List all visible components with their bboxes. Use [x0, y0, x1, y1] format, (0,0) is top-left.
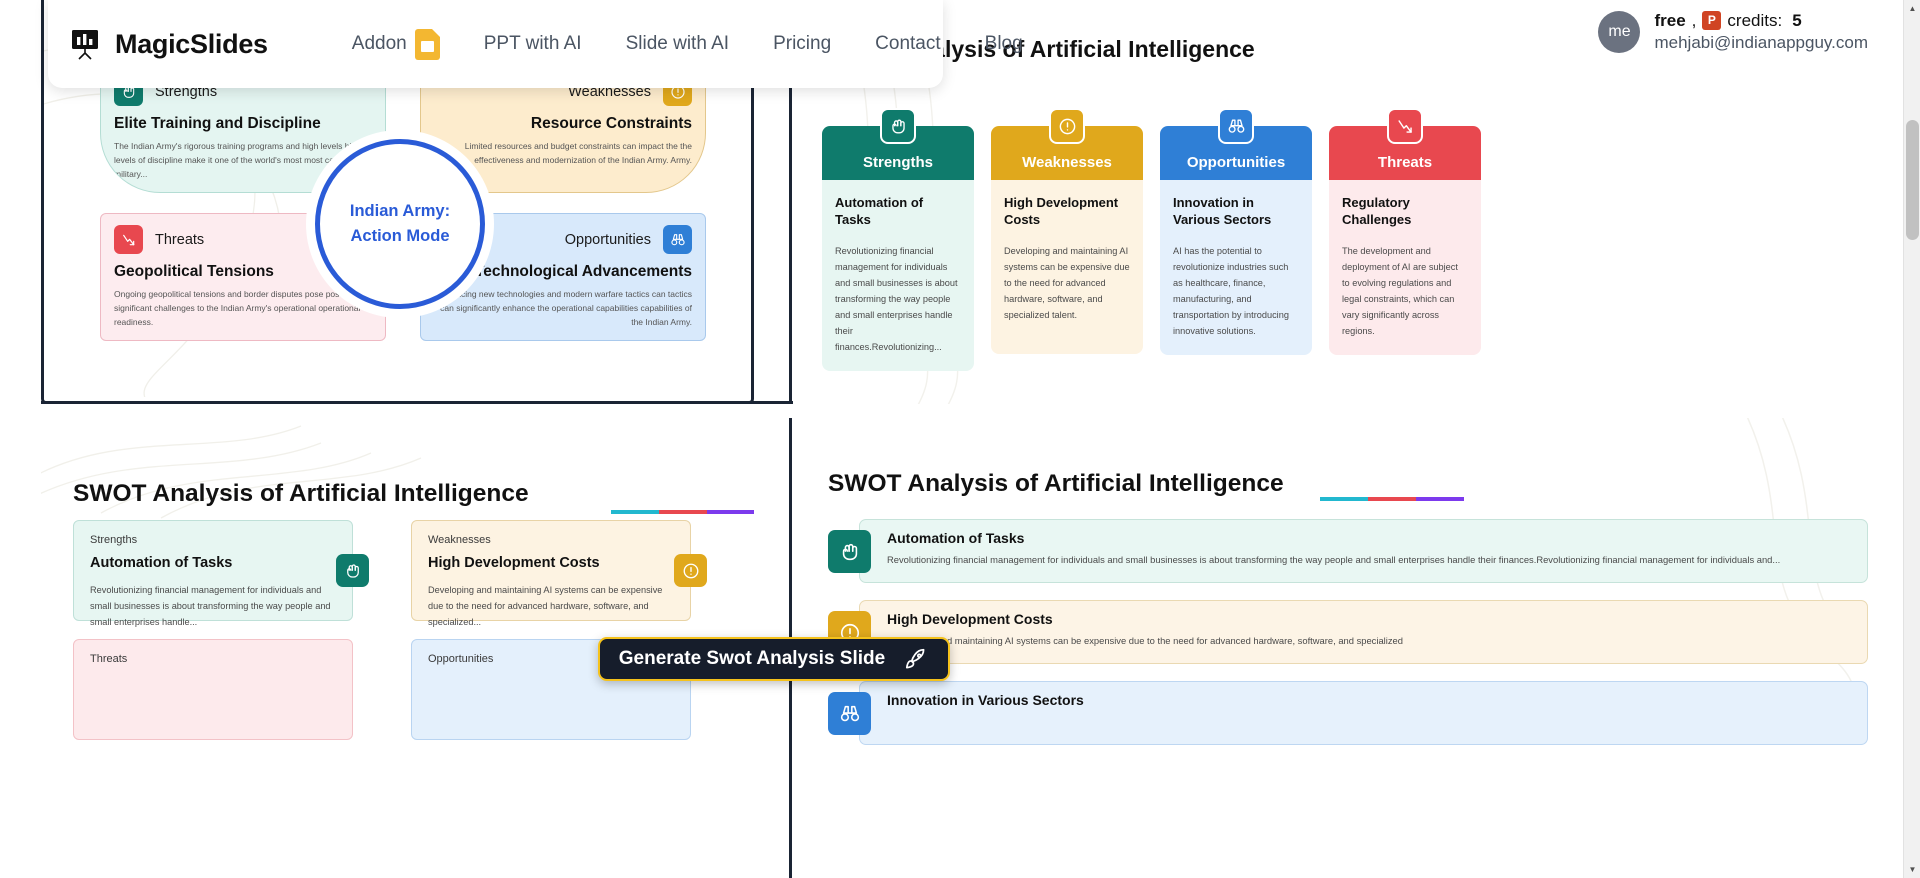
- account-details: free , P credits: 5 mehjabi@indianappguy…: [1654, 10, 1868, 54]
- top-navigation-bar: MagicSlides Addon PPT with AI Slide with…: [48, 0, 943, 88]
- account-separator: ,: [1692, 10, 1697, 32]
- swot-column-opportunities-title: Innovation in Various Sectors: [1173, 194, 1299, 229]
- swot-column-threats-title: Regulatory Challenges: [1342, 194, 1468, 229]
- swot-card-threats[interactable]: Threats: [73, 639, 353, 740]
- swot-card-weaknesses-title: High Development Costs: [428, 555, 674, 571]
- fist-icon: [880, 108, 916, 144]
- swot-card-threats-label: Threats: [90, 653, 336, 665]
- swot-list-item-strengths[interactable]: Automation of Tasks Revolutionizing fina…: [828, 519, 1868, 583]
- powerpoint-icon: P: [1702, 11, 1721, 30]
- swot-column-strengths-desc: Revolutionizing financial management for…: [835, 243, 961, 356]
- swot-column-weaknesses[interactable]: Weaknesses High Development Costs Develo…: [991, 108, 1143, 371]
- swot-column-threats[interactable]: Threats Regulatory Challenges The develo…: [1329, 108, 1481, 371]
- quadrant-weaknesses-desc: Limited resources and budget constraints…: [434, 140, 692, 168]
- swot-column-strengths[interactable]: Strengths Automation of Tasks Revolution…: [822, 108, 974, 371]
- swot-card-strengths[interactable]: Strengths Automation of Tasks Revolution…: [73, 520, 353, 621]
- quadrant-opportunities-desc: Embracing new technologies and modern wa…: [434, 288, 692, 329]
- swot-list-item-opportunities-card: Innovation in Various Sectors: [859, 681, 1868, 745]
- account-email: mehjabi@indianappguy.com: [1654, 32, 1868, 54]
- swot-list-item-weaknesses[interactable]: High Development Costs Developing and ma…: [828, 600, 1868, 664]
- swot-column-weaknesses-desc: Developing and maintaining AI systems ca…: [1004, 243, 1130, 323]
- scroll-down-arrow-icon[interactable]: ▼: [1904, 861, 1920, 878]
- trend-down-icon: [1387, 108, 1423, 144]
- swot-column-threats-body: Regulatory Challenges The development an…: [1329, 180, 1481, 355]
- brand-name: MagicSlides: [115, 29, 268, 60]
- fist-icon: [828, 530, 871, 573]
- nav-item-contact[interactable]: Contact: [853, 33, 962, 55]
- center-title-line1: Indian Army:: [350, 199, 450, 224]
- fist-icon: [336, 554, 369, 587]
- swot-card-grid: Strengths Automation of Tasks Revolution…: [73, 520, 691, 740]
- google-slides-icon: [415, 29, 440, 60]
- swot-column-group: Strengths Automation of Tasks Revolution…: [822, 108, 1481, 371]
- binoculars-icon: [828, 692, 871, 735]
- slide-swot-four-columns[interactable]: SWOT Analysis of Artificial Intelligence…: [793, 0, 1903, 404]
- swot-list-group: Automation of Tasks Revolutionizing fina…: [828, 519, 1868, 762]
- trend-down-icon: [114, 225, 143, 254]
- swot-list-item-weaknesses-card: High Development Costs Developing and ma…: [859, 600, 1868, 664]
- swot-card-weaknesses-desc: Developing and maintaining AI systems ca…: [428, 582, 674, 630]
- slide-bottom-left-title: SWOT Analysis of Artificial Intelligence: [73, 480, 529, 508]
- account-plan: free: [1654, 10, 1685, 32]
- nav-link-group: Addon PPT with AI Slide with AI Pricing …: [330, 29, 1045, 60]
- swot-card-strengths-title: Automation of Tasks: [90, 555, 336, 571]
- credits-value: 5: [1792, 10, 1801, 32]
- swot-column-strengths-body: Automation of Tasks Revolutionizing fina…: [822, 180, 974, 371]
- quadrant-weaknesses-title: Resource Constraints: [434, 115, 692, 133]
- scroll-up-arrow-icon[interactable]: ▲: [1904, 0, 1920, 17]
- swot-list-item-strengths-card: Automation of Tasks Revolutionizing fina…: [859, 519, 1868, 583]
- nav-item-addon-label: Addon: [352, 33, 407, 55]
- credits-label: credits:: [1727, 10, 1782, 32]
- swot-list-item-weaknesses-title: High Development Costs: [887, 611, 1849, 627]
- nav-item-addon[interactable]: Addon: [330, 29, 462, 60]
- alert-circle-icon: [1049, 108, 1085, 144]
- rocket-icon: [903, 646, 929, 672]
- swot-column-opportunities-desc: AI has the potential to revolutionize in…: [1173, 243, 1299, 340]
- page-canvas: SWOT Analysis of Artificial Intelligence: [0, 0, 1903, 878]
- center-title-line2: Action Mode: [351, 224, 450, 249]
- swot-column-weaknesses-title: High Development Costs: [1004, 194, 1130, 229]
- scrollbar-thumb[interactable]: [1906, 120, 1919, 240]
- swot-column-opportunities-body: Innovation in Various Sectors AI has the…: [1160, 180, 1312, 355]
- quadrant-opportunities-label: Opportunities: [565, 232, 651, 248]
- swot-card-weaknesses-label: Weaknesses: [428, 534, 674, 546]
- quadrant-strengths-title: Elite Training and Discipline: [114, 115, 372, 133]
- binoculars-icon: [1218, 108, 1254, 144]
- swot-column-opportunities[interactable]: Opportunities Innovation in Various Sect…: [1160, 108, 1312, 371]
- nav-item-slide-with-ai[interactable]: Slide with AI: [604, 33, 752, 55]
- nav-item-ppt-with-ai[interactable]: PPT with AI: [462, 33, 604, 55]
- swot-list-item-strengths-desc: Revolutionizing financial management for…: [887, 552, 1849, 568]
- swot-card-strengths-label: Strengths: [90, 534, 336, 546]
- swot-column-strengths-title: Automation of Tasks: [835, 194, 961, 229]
- cta-label: Generate Swot Analysis Slide: [619, 648, 885, 670]
- accent-bar-group: [1320, 497, 1464, 501]
- swot-center-circle: Indian Army: Action Mode: [315, 139, 485, 309]
- slide-swot-list[interactable]: SWOT Analysis of Artificial Intelligence…: [793, 418, 1903, 878]
- binoculars-icon: [663, 225, 692, 254]
- swot-list-item-opportunities-title: Innovation in Various Sectors: [887, 692, 1849, 708]
- account-plan-row: free , P credits: 5: [1654, 10, 1868, 32]
- quadrant-threats-desc: Ongoing geopolitical tensions and border…: [114, 288, 372, 329]
- avatar[interactable]: me: [1598, 11, 1640, 53]
- nav-item-pricing[interactable]: Pricing: [751, 33, 853, 55]
- swot-column-weaknesses-body: High Development Costs Developing and ma…: [991, 180, 1143, 354]
- swot-card-strengths-desc: Revolutionizing financial management for…: [90, 582, 336, 630]
- quadrant-threats-label: Threats: [155, 232, 204, 248]
- swot-card-weaknesses[interactable]: Weaknesses High Development Costs Develo…: [411, 520, 691, 621]
- swot-list-item-strengths-title: Automation of Tasks: [887, 530, 1849, 546]
- alert-circle-icon: [674, 554, 707, 587]
- accent-bar-group: [611, 510, 754, 514]
- account-area[interactable]: me free , P credits: 5 mehjabi@indianapp…: [1598, 10, 1868, 54]
- vertical-scrollbar[interactable]: ▲ ▼: [1903, 0, 1920, 878]
- generate-swot-analysis-slide-button[interactable]: Generate Swot Analysis Slide: [598, 637, 950, 681]
- slide-bottom-right-title: SWOT Analysis of Artificial Intelligence: [828, 470, 1284, 498]
- presentation-chart-icon: [68, 26, 104, 62]
- brand-logo[interactable]: MagicSlides: [68, 26, 268, 62]
- nav-item-blog[interactable]: Blog: [963, 33, 1045, 55]
- swot-list-item-weaknesses-desc: Developing and maintaining AI systems ca…: [887, 633, 1849, 649]
- swot-column-threats-desc: The development and deployment of AI are…: [1342, 243, 1468, 340]
- swot-list-item-opportunities[interactable]: Innovation in Various Sectors: [828, 681, 1868, 745]
